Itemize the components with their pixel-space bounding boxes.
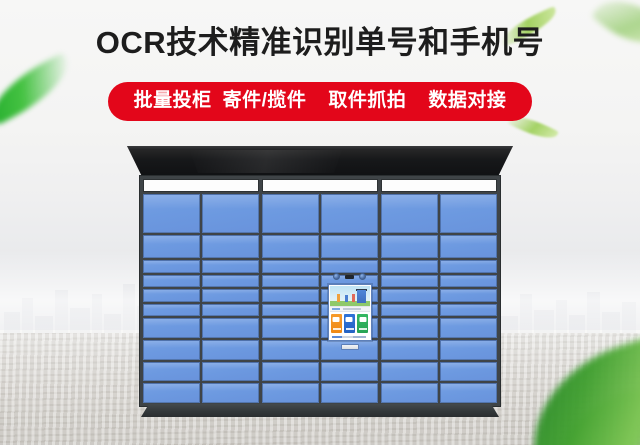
- locker-door[interactable]: [143, 362, 200, 382]
- cabinet-canopy: [127, 146, 513, 178]
- locker-door[interactable]: [202, 235, 259, 258]
- locker-column: [143, 194, 200, 403]
- locker-door[interactable]: [262, 340, 319, 360]
- canopy-front-edge: [127, 146, 513, 150]
- locker-door[interactable]: [262, 318, 319, 338]
- locker-door[interactable]: [381, 194, 438, 233]
- section-sign-left: [143, 179, 259, 192]
- feature-banner-pill: 批量投柜寄件/揽件取件抓拍数据对接: [108, 82, 533, 121]
- locker-door[interactable]: [143, 340, 200, 360]
- box-icon: [333, 317, 340, 322]
- express-tile-button[interactable]: [357, 314, 368, 333]
- locker-doors-center: [262, 194, 378, 403]
- locker-door[interactable]: [202, 289, 259, 301]
- locker-door[interactable]: [440, 275, 497, 287]
- locker-door[interactable]: [202, 260, 259, 272]
- locker-door[interactable]: [262, 289, 319, 301]
- locker-doors-right: [381, 194, 497, 403]
- page-title: OCR技术精准识别单号和手机号: [0, 24, 640, 62]
- locker-door[interactable]: [440, 289, 497, 301]
- locker-door[interactable]: [262, 235, 319, 258]
- locker-door[interactable]: [321, 383, 378, 403]
- locker-door[interactable]: [202, 383, 259, 403]
- pickup-tile-button[interactable]: [344, 314, 355, 333]
- locker-column: [440, 194, 497, 403]
- locker-door[interactable]: [202, 340, 259, 360]
- cabinet-body: [139, 175, 501, 407]
- locker-door[interactable]: [440, 194, 497, 233]
- locker-door[interactable]: [440, 235, 497, 258]
- locker-door[interactable]: [381, 235, 438, 258]
- locker-section-left: [143, 179, 259, 403]
- locker-door[interactable]: [381, 304, 438, 316]
- locker-door[interactable]: [321, 260, 378, 272]
- feature-item-send-collect: 寄件/揽件: [223, 90, 307, 111]
- card-reader-slot[interactable]: [341, 344, 359, 350]
- locker-door[interactable]: [381, 383, 438, 403]
- locker-door[interactable]: [381, 260, 438, 272]
- kiosk-hero-illustration: [330, 286, 370, 306]
- locker-door[interactable]: [143, 304, 200, 316]
- truck-icon: [359, 317, 366, 322]
- scanner-bar-icon: [345, 275, 354, 279]
- locker-door[interactable]: [321, 362, 378, 382]
- locker-door[interactable]: [321, 235, 378, 258]
- camera-lens-icon-right: [359, 273, 366, 280]
- locker-door[interactable]: [143, 318, 200, 338]
- locker-column: [381, 194, 438, 403]
- feature-item-pickup-capture: 取件抓拍: [328, 90, 406, 111]
- locker-door[interactable]: [440, 340, 497, 360]
- locker-door[interactable]: [262, 194, 319, 233]
- locker-door[interactable]: [143, 289, 200, 301]
- locker-door[interactable]: [381, 318, 438, 338]
- deposit-tile-button[interactable]: [331, 314, 342, 333]
- locker-door[interactable]: [381, 340, 438, 360]
- locker-doors-left: [143, 194, 259, 403]
- locker-door[interactable]: [381, 289, 438, 301]
- locker-door[interactable]: [381, 275, 438, 287]
- kiosk-sensor-row: [328, 272, 372, 281]
- locker-column-with-kiosk: [321, 194, 378, 403]
- locker-column: [262, 194, 319, 403]
- parcel-icon: [346, 317, 353, 322]
- locker-column: [202, 194, 259, 403]
- locker-door[interactable]: [440, 318, 497, 338]
- locker-door[interactable]: [262, 362, 319, 382]
- locker-door[interactable]: [440, 383, 497, 403]
- locker-door[interactable]: [143, 383, 200, 403]
- kiosk-terminal[interactable]: [328, 272, 372, 350]
- locker-door[interactable]: [381, 362, 438, 382]
- locker-door[interactable]: [262, 304, 319, 316]
- locker-door[interactable]: [321, 194, 378, 233]
- locker-door[interactable]: [202, 362, 259, 382]
- feature-item-batch-deposit: 批量投柜: [134, 90, 212, 111]
- locker-door[interactable]: [440, 260, 497, 272]
- section-sign-right: [381, 179, 497, 192]
- promo-poster: OCR技术精准识别单号和手机号 批量投柜寄件/揽件取件抓拍数据对接: [0, 0, 640, 445]
- locker-door[interactable]: [202, 318, 259, 338]
- locker-door[interactable]: [262, 260, 319, 272]
- locker-door[interactable]: [440, 304, 497, 316]
- canopy-highlight: [189, 147, 343, 173]
- cabinet-base-plinth: [141, 404, 499, 417]
- section-sign-center: [262, 179, 378, 192]
- feature-item-data-sync: 数据对接: [428, 90, 506, 111]
- locker-section-center: [262, 179, 378, 403]
- locker-door[interactable]: [143, 275, 200, 287]
- locker-door[interactable]: [262, 275, 319, 287]
- locker-section-right: [381, 179, 497, 403]
- locker-door[interactable]: [440, 362, 497, 382]
- camera-lens-icon-left: [333, 273, 340, 280]
- kiosk-notice-strip: [330, 306, 370, 312]
- locker-door[interactable]: [202, 194, 259, 233]
- locker-door[interactable]: [143, 194, 200, 233]
- locker-door[interactable]: [202, 275, 259, 287]
- locker-door[interactable]: [143, 260, 200, 272]
- locker-door[interactable]: [262, 383, 319, 403]
- locker-door[interactable]: [143, 235, 200, 258]
- kiosk-screen[interactable]: [328, 284, 372, 341]
- kiosk-footer-bar: [330, 335, 370, 339]
- kiosk-action-tiles: [330, 312, 370, 335]
- smart-locker-cabinet: [139, 146, 501, 418]
- feature-banner: 批量投柜寄件/揽件取件抓拍数据对接: [0, 82, 640, 121]
- locker-door[interactable]: [202, 304, 259, 316]
